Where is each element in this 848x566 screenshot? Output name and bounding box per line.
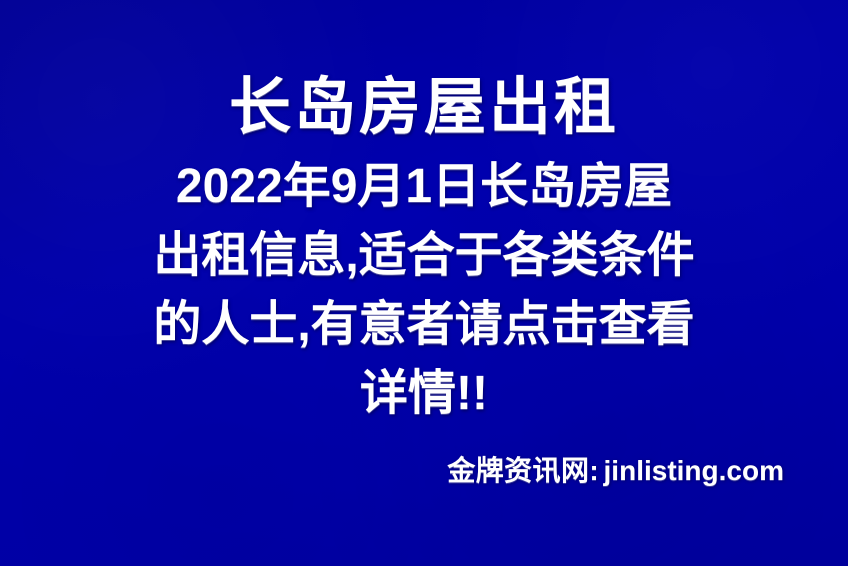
poster-content: 长岛房屋出租 2022年9月1日长岛房屋 出租信息,适合于各类条件 的人士,有意… [0, 0, 848, 566]
body-line-1: 2022年9月1日长岛房屋 [0, 152, 848, 221]
body-text-block: 2022年9月1日长岛房屋 出租信息,适合于各类条件 的人士,有意者请点击查看 … [0, 152, 848, 428]
page-title: 长岛房屋出租 [0, 69, 848, 147]
promo-poster: 长岛房屋出租 2022年9月1日长岛房屋 出租信息,适合于各类条件 的人士,有意… [0, 0, 848, 566]
footer-attribution: 金牌资讯网: jinlisting.com [0, 449, 784, 489]
site-domain-link[interactable]: jinlisting.com [604, 455, 784, 486]
site-name-label: 金牌资讯网: [447, 455, 599, 486]
body-line-3: 的人士,有意者请点击查看 [0, 290, 848, 359]
body-line-2: 出租信息,适合于各类条件 [0, 221, 848, 290]
body-line-4: 详情!! [0, 359, 848, 428]
